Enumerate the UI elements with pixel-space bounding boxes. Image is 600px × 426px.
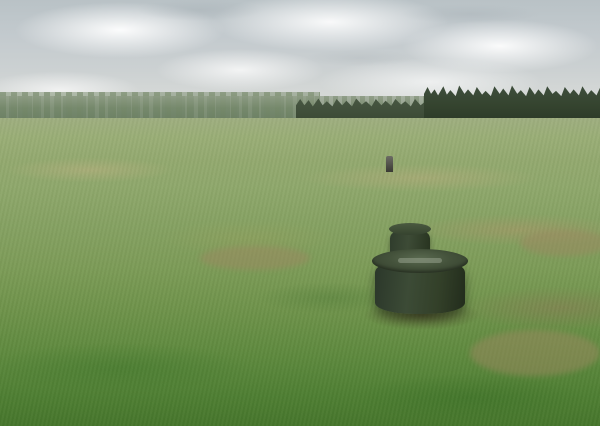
septic-tank-cover-lid [372,249,468,273]
dirt-patch [200,246,310,270]
dirt-patch [520,230,600,256]
poster: HAJAASUSTUSE PROGRAMM 2026. aasta taotlu… [0,0,600,426]
septic-tank-cover [375,258,465,314]
dirt-patch [470,330,600,376]
marker-post [386,156,393,172]
grass-field [0,118,600,426]
background-photograph [0,0,600,426]
septic-tank-riser-lid [389,223,431,235]
